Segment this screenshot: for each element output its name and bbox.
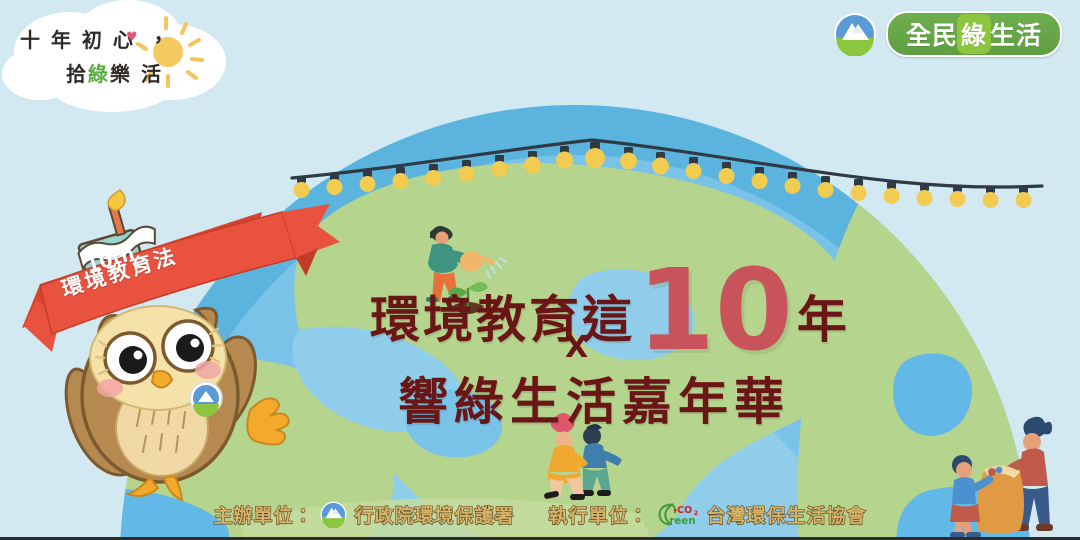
person-watering-plant	[426, 226, 506, 314]
brand-text-a: 全民	[906, 16, 958, 52]
svg-text:reen: reen	[669, 516, 695, 527]
couple-walking	[544, 413, 622, 500]
svg-text:-CO: -CO	[673, 505, 692, 516]
credit-host-label: 主辦單位：	[213, 501, 313, 528]
brand-text-b: 生活	[990, 16, 1042, 52]
brand-text-accent: 綠	[959, 16, 989, 52]
figure-illustrations	[0, 0, 1080, 540]
epa-mountain-logo-small	[320, 501, 347, 528]
brand-lockup[interactable]: 全民綠生活	[833, 10, 1062, 58]
epa-mountain-logo	[833, 12, 877, 56]
credit-exec-label: 執行單位：	[549, 501, 649, 528]
poster-canvas: 十 年 初 心♥， 拾綠樂 活	[0, 0, 1080, 540]
green-co2-logo: -CO 2 reen	[656, 499, 700, 529]
credit-exec: 執行單位： -CO 2 reen 台灣環保生活協會	[549, 499, 867, 529]
credits-bar: 主辦單位： 行政院環境保護署 執行單位： -CO 2 reen 台灣環保生活協會	[0, 496, 1080, 532]
credit-host: 主辦單位： 行政院環境保護署	[213, 501, 514, 528]
credit-exec-name: 台灣環保生活協會	[707, 501, 867, 528]
brand-pill[interactable]: 全民綠生活	[886, 11, 1062, 57]
credit-host-name: 行政院環境保護署	[354, 501, 514, 528]
